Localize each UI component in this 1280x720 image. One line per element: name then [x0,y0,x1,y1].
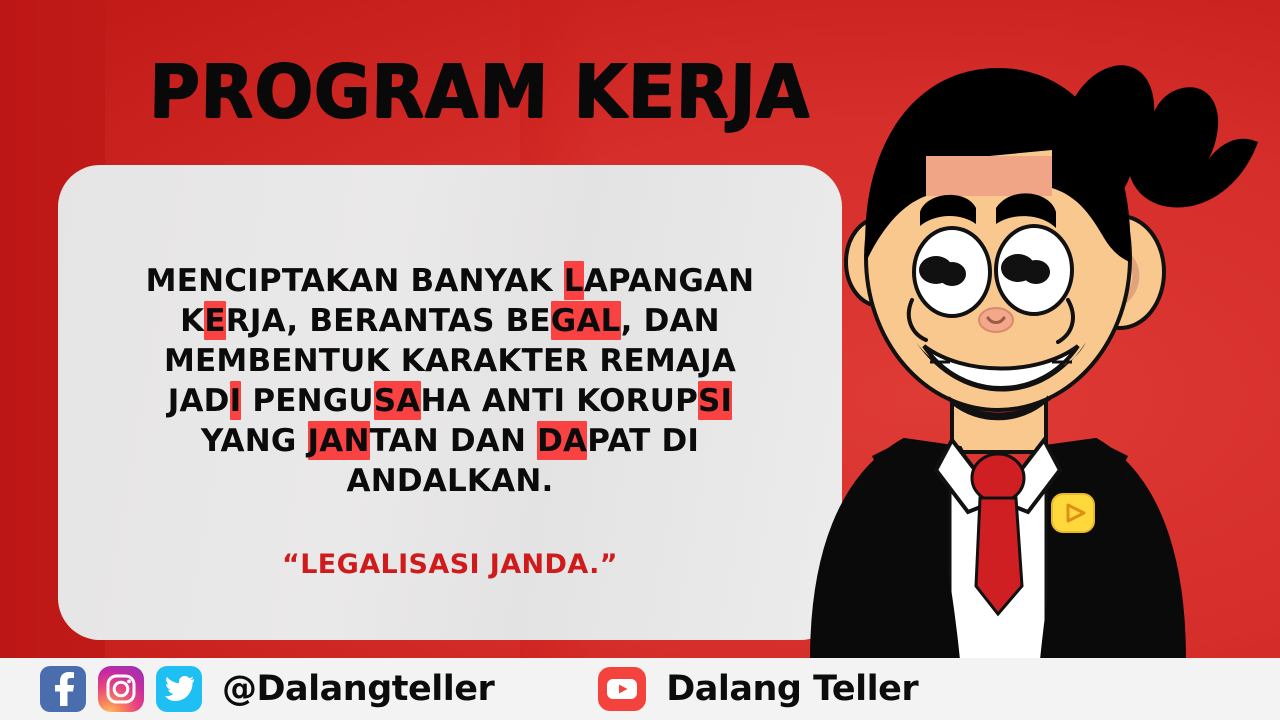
tie-knot [972,454,1024,502]
highlighted-run: L [564,261,584,300]
program-body-line: MENCIPTAKAN BANYAK LAPANGAN [58,261,842,301]
plain-run: PENGU [241,383,373,419]
plain-run: APANGAN [584,263,755,299]
plain-run: PAT DI [587,423,699,459]
pupil-left-2 [938,262,966,286]
highlighted-run: JAN [308,421,370,460]
social-group-right: Dalang Teller [598,667,918,711]
program-body-line: YANG JANTAN DAN DAPAT DI [58,421,842,461]
plain-run: MENCIPTAKAN BANYAK [146,263,564,299]
instagram-icon[interactable] [98,666,144,712]
facebook-icon[interactable] [40,666,86,712]
highlighted-run: GAL [551,301,621,340]
program-body-line: KERJA, BERANTAS BEGAL, DAN [58,301,842,341]
plain-run: RJA, BERANTAS BE [226,303,551,339]
channel-name: Dalang Teller [666,669,918,709]
plain-run: JAD [168,383,230,419]
plain-run: MEMBENTUK KARAKTER REMAJA [164,343,736,379]
nose-shape [979,308,1013,332]
plain-run: TAN DAN [370,423,538,459]
plain-run: HA ANTI KORUP [421,383,698,419]
program-body-line: MEMBENTUK KARAKTER REMAJA [58,341,842,381]
plain-run: , DAN [621,303,720,339]
highlighted-run: SI [698,381,732,420]
pupil-right-2 [1022,260,1050,284]
highlighted-run: SA [374,381,421,420]
program-body-text: MENCIPTAKAN BANYAK LAPANGANKERJA, BERANT… [58,261,842,501]
plain-run: K [180,303,204,339]
lapel-pin-badge [1052,494,1094,532]
social-group-left: @Dalangteller [40,666,494,712]
program-body-line: ANDALKAN. [58,461,842,501]
twitter-icon[interactable] [156,666,202,712]
punchline-text: “LEGALISASI JANDA.” [58,549,842,580]
social-handle: @Dalangteller [222,669,494,709]
character-illustration [800,0,1280,660]
highlighted-run: DA [537,421,587,460]
content-card: MENCIPTAKAN BANYAK LAPANGANKERJA, BERANT… [58,165,842,640]
program-body-line: JADI PENGUSAHA ANTI KORUPSI [58,381,842,421]
poster-canvas: PROGRAM KERJA MENCIPTAKAN BANYAK LAPANGA… [0,0,1280,720]
highlighted-run: I [230,381,242,420]
plain-run: YANG [201,423,308,459]
page-title: PROGRAM KERJA [33,50,927,134]
youtube-icon[interactable] [598,667,646,711]
footer-bar: @Dalangteller Dalang Teller [0,658,1280,720]
plain-run: ANDALKAN. [347,463,554,499]
highlighted-run: E [204,301,225,340]
